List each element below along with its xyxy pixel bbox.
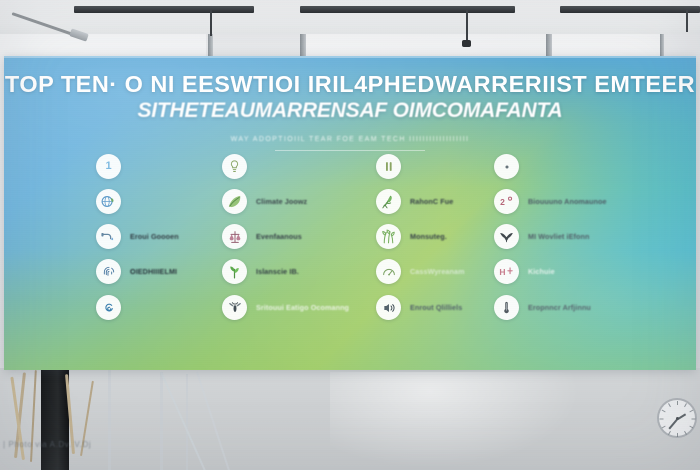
list-item: CassWyreanam [376,259,465,284]
list-item-label: Climate Joowz [256,198,307,206]
co2-molecule-icon: 2 [494,189,519,214]
list-item [494,154,528,179]
list-item-label: Enrout Qlilliels [410,304,462,312]
wall-poster: TOP TEN· O NI EESWTIOI IRIL4PHEDWARRERII… [4,56,696,370]
ceiling-drop-rod [210,10,212,36]
ceiling-rail [300,6,515,13]
list-item-label: MI Wovliet iEfonn [528,233,589,241]
list-item: Climate Joowz [222,189,307,214]
list-item: RahonC Fue [376,189,453,214]
bird-flying-icon [494,224,519,249]
wall-clock-icon [657,398,697,438]
list-item-label: Evenfaanous [256,233,302,241]
list-item-label: Biouuuno Anomaunoe [528,198,607,206]
list-item: Sritouui Eatigo Ocomanng [222,295,349,320]
poster-headline: TOP TEN· O NI EESWTIOI IRIL4PHEDWARRERII… [4,70,696,124]
list-item: Evenfaanous [222,224,302,249]
poster-top-edge [4,56,696,58]
svg-text:H: H [499,267,505,277]
screenshot-scene: TOP TEN· O NI EESWTIOI IRIL4PHEDWARRERII… [0,0,700,470]
photo-watermark: | Photo via A.Dv. V.Dj [3,440,91,449]
list-item-label: Kichuie [528,268,555,276]
grasshopper-icon [376,189,401,214]
dot-spark-icon [494,154,519,179]
list-item: Eroui Goooen [96,224,179,249]
ph-meter-icon: H [494,259,519,284]
faucet-drop-icon [96,224,121,249]
list-item: 1 [96,154,130,179]
leaf-sprig-icon [222,189,247,214]
list-item: Islanscie IB. [222,259,299,284]
poster-subheadline: WAY ADOPTIOIIL TEAR FOE EAM TECH IIIIIII… [4,136,696,143]
ceiling-rail [74,6,254,13]
list-item: H Kichuie [494,259,555,284]
ceiling-drop-rod [466,10,468,44]
fingerprint-icon [96,259,121,284]
list-item-label: Eropnncr Arfjinnu [528,304,591,312]
list-item-label: Islanscie IB. [256,268,299,276]
list-item: Monsuteg. [376,224,447,249]
svg-text:2: 2 [500,197,505,207]
gauge-meter-icon [376,259,401,284]
glass-partition-rail [160,372,163,470]
ceiling-rail [560,6,700,13]
pause-bars-icon [376,154,401,179]
globe-leaf-icon [96,189,121,214]
lightbulb-icon [222,154,247,179]
list-item [222,154,256,179]
headline-line-2: SITHETEAUMARRENSAF OIMCOMAFANTA [4,98,696,124]
list-item-label: Eroui Goooen [130,233,179,241]
list-item-label: RahonC Fue [410,198,453,206]
wheat-grass-icon [376,224,401,249]
ceiling-rod-cap [462,40,471,47]
floor-sheen [330,372,580,468]
list-item: OIEDHIIIELMI [96,259,177,284]
speaker-sound-icon [376,295,401,320]
badge-number: 1 [105,161,111,172]
list-item-label: CassWyreanam [410,268,465,276]
scales-balance-icon [222,224,247,249]
list-item: MI Wovliet iEfonn [494,224,589,249]
list-item [96,295,130,320]
number-badge-one-icon: 1 [96,154,121,179]
mosquito-icon [222,295,247,320]
subheadline-underline [275,150,425,151]
list-item [96,189,130,214]
spiral-swirl-icon [96,295,121,320]
ceiling-drop-rod [686,10,688,32]
thermometer-icon [494,295,519,320]
glass-partition-rail [108,370,111,470]
plant-sprout-icon [222,259,247,284]
list-item-label: OIEDHIIIELMI [130,268,177,276]
glass-partition-rail [186,374,188,470]
headline-line-1: TOP TEN· O NI EESWTIOI IRIL4PHEDWARRERII… [4,70,696,98]
list-item: Eropnncr Arfjinnu [494,295,591,320]
list-item-label: Sritouui Eatigo Ocomanng [256,304,349,312]
poster-icon-grid: 1 [4,154,696,370]
list-item-label: Monsuteg. [410,233,447,241]
dark-door-column [41,368,69,470]
list-item [376,154,410,179]
list-item: 2 Biouuuno Anomaunoe [494,189,607,214]
list-item: Enrout Qlilliels [376,295,462,320]
